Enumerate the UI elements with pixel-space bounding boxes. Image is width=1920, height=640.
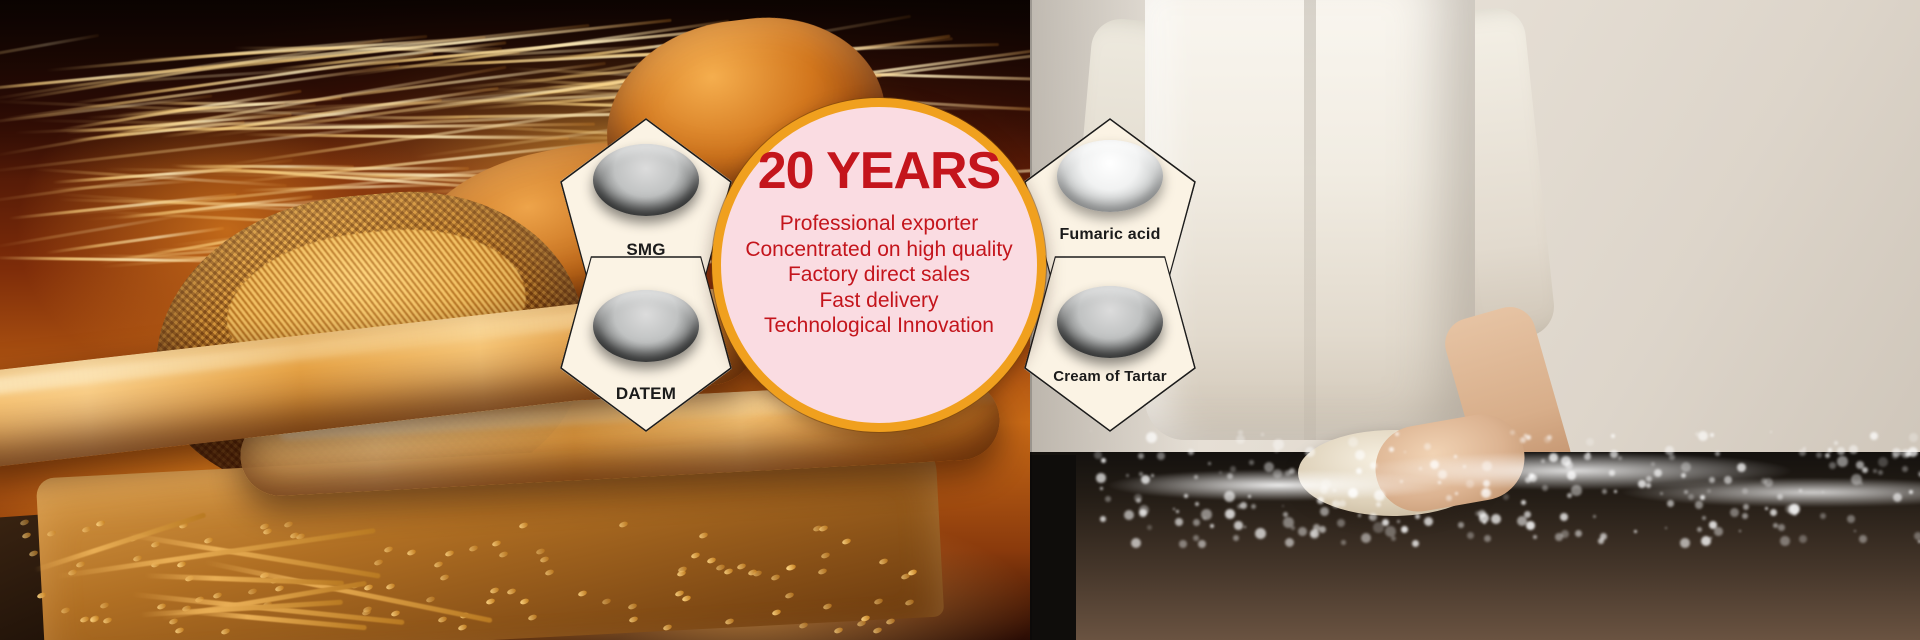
baker-shirt <box>1145 0 1475 440</box>
years-badge: 20 YEARS Professional exporter Concentra… <box>712 98 1046 432</box>
value-proposition-list: Professional exporter Concentrated on hi… <box>745 211 1012 339</box>
promo-banner: SMG DATEM Fumaric acid Cream of Tartar <box>0 0 1920 640</box>
value-line: Factory direct sales <box>745 262 1012 288</box>
value-line: Professional exporter <box>745 211 1012 237</box>
value-line: Technological Innovation <box>745 313 1012 339</box>
flour-dust <box>1090 430 1920 550</box>
powder-jar-icon <box>593 144 699 216</box>
powder-jar-icon <box>1057 140 1163 212</box>
years-title: 20 YEARS <box>758 145 1001 197</box>
powder-jar-icon <box>593 290 699 362</box>
value-line: Concentrated on high quality <box>745 237 1012 263</box>
value-line: Fast delivery <box>745 288 1012 314</box>
table-edge <box>1030 455 1076 640</box>
product-label: Cream of Tartar <box>1024 368 1196 385</box>
scattered-grains <box>0 480 980 640</box>
powder-jar-icon <box>1057 286 1163 358</box>
product-label: Fumaric acid <box>1024 226 1196 244</box>
